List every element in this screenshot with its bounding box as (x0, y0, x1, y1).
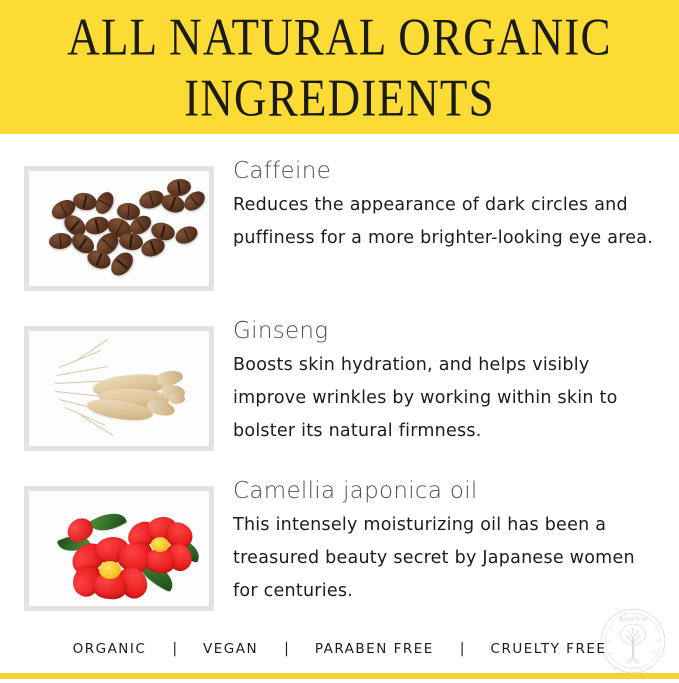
ingredient-name: Caffeine (233, 156, 665, 187)
camellia-flower-photo (24, 486, 214, 611)
ingredient-row: Caffeine Reduces the appearance of dark … (0, 134, 679, 294)
infographic-page: ALL NATURAL ORGANIC INGREDIENTS (0, 0, 679, 679)
ingredient-description: Reduces the appearance of dark circles a… (233, 189, 665, 255)
header-title-line-2: INGREDIENTS (184, 68, 495, 127)
badge-separator: | (258, 641, 315, 657)
ingredient-description: This intensely moisturizing oil has been… (233, 509, 665, 608)
badge-vegan: VEGAN (203, 641, 258, 657)
header-title-line-1: ALL NATURAL ORGANIC (67, 7, 611, 66)
badge-separator: | (434, 641, 491, 657)
badge-organic: ORGANIC (73, 641, 147, 657)
ingredient-name: Camellia japonica oil (233, 476, 665, 507)
footer-badge-row: ORGANIC | VEGAN | PARABEN FREE | CRUELTY… (0, 632, 679, 666)
ginseng-root-photo (24, 326, 214, 451)
coffee-beans-photo (24, 166, 214, 291)
badge-cruelty-free: CRUELTY FREE (491, 641, 607, 657)
ingredient-description: Boosts skin hydration, and helps visibly… (233, 349, 665, 448)
header-banner: ALL NATURAL ORGANIC INGREDIENTS (0, 0, 679, 134)
badge-separator: | (146, 641, 203, 657)
ingredient-row: Ginseng Boosts skin hydration, and helps… (0, 294, 679, 454)
footer-accent-strip (0, 673, 679, 679)
badge-paraben-free: PARABEN FREE (315, 641, 434, 657)
watermark-location-top: SAN FRANCISCO (612, 666, 654, 670)
ingredient-row: Camellia japonica oil This intensely moi… (0, 454, 679, 614)
watermark-brand-text: doppeltree (619, 615, 647, 622)
ingredient-list: Caffeine Reduces the appearance of dark … (0, 134, 679, 614)
ingredient-text-block: Caffeine Reduces the appearance of dark … (233, 156, 665, 255)
ingredient-text-block: Ginseng Boosts skin hydration, and helps… (233, 316, 665, 448)
ingredient-name: Ginseng (233, 316, 665, 347)
ingredient-text-block: Camellia japonica oil This intensely moi… (233, 476, 665, 608)
